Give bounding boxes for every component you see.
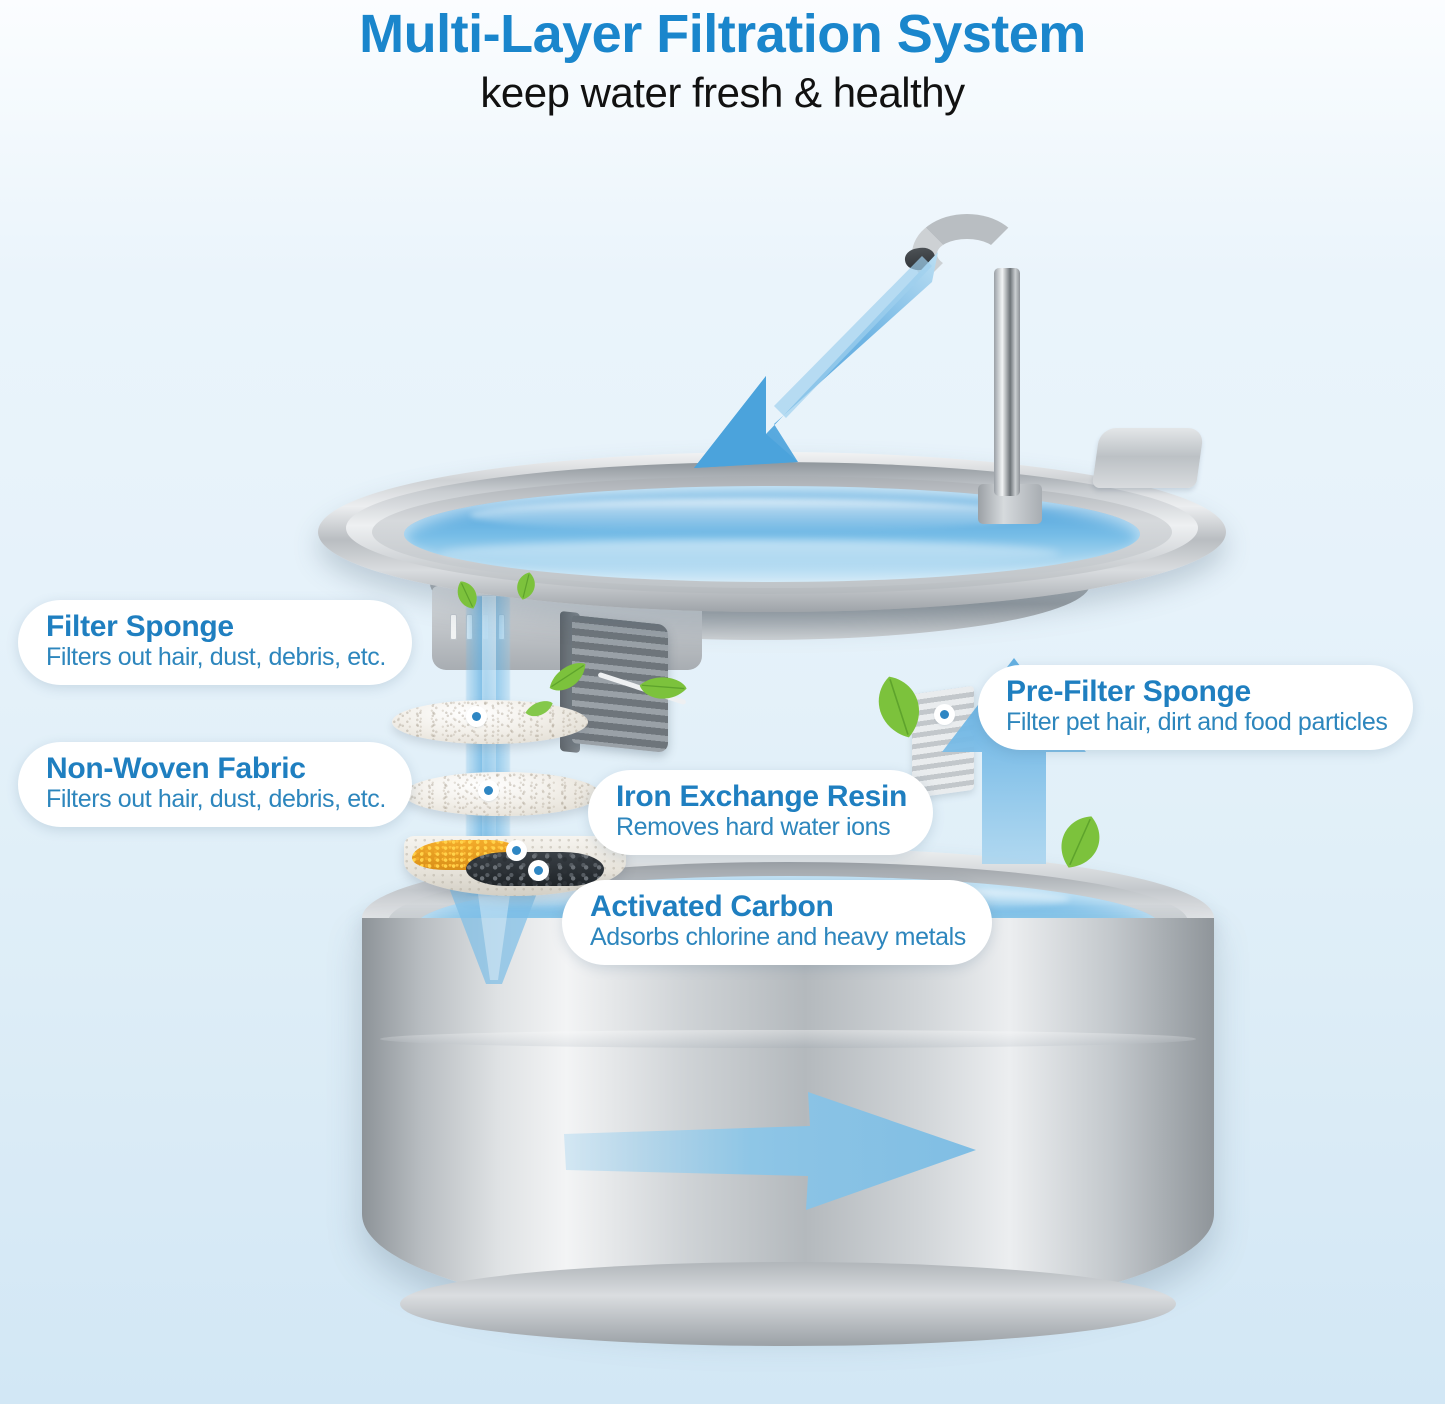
water-funnel-stream	[436, 880, 552, 990]
filter-sponge-disc	[392, 700, 588, 744]
upper-water-highlight-2	[440, 540, 1060, 566]
faucet-stem	[994, 268, 1020, 496]
callout-title: Pre-Filter Sponge	[1006, 675, 1387, 708]
upper-water-highlight	[470, 498, 1030, 532]
marker-pre-filter-sponge	[936, 706, 953, 723]
callout-title: Filter Sponge	[46, 610, 386, 643]
marker-activated-carbon	[530, 862, 547, 879]
callout-description: Filters out hair, dust, debris, etc.	[46, 785, 386, 815]
callout-title: Non-Woven Fabric	[46, 752, 386, 785]
tank-circulation-arrow	[560, 1082, 980, 1222]
water-inflow-arrow	[670, 248, 950, 478]
non-woven-fabric-disc	[404, 772, 600, 816]
lower-tank-band	[380, 1030, 1196, 1048]
infographic-canvas: Multi-Layer Filtration System keep water…	[0, 0, 1445, 1404]
marker-ion-exchange-resin	[508, 842, 525, 859]
callout-title: Activated Carbon	[590, 890, 966, 923]
callout-title: Iron Exchange Resin	[616, 780, 907, 813]
leaf-icon	[523, 696, 555, 721]
callout-non-woven-fabric: Non-Woven Fabric Filters out hair, dust,…	[18, 742, 412, 827]
faucet-rim-clip	[1092, 428, 1204, 488]
callout-description: Adsorbs chlorine and heavy metals	[590, 923, 966, 953]
callout-description: Removes hard water ions	[616, 813, 907, 843]
callout-iron-exchange-resin: Iron Exchange Resin Removes hard water i…	[588, 770, 933, 855]
marker-non-woven-fabric	[480, 782, 497, 799]
lower-tank-base	[400, 1262, 1176, 1346]
callout-pre-filter-sponge: Pre-Filter Sponge Filter pet hair, dirt …	[978, 665, 1413, 750]
callout-description: Filters out hair, dust, debris, etc.	[46, 643, 386, 673]
callout-activated-carbon: Activated Carbon Adsorbs chlorine and he…	[562, 880, 992, 965]
marker-filter-sponge	[468, 708, 485, 725]
callout-filter-sponge: Filter Sponge Filters out hair, dust, de…	[18, 600, 412, 685]
callout-description: Filter pet hair, dirt and food particles	[1006, 708, 1387, 738]
